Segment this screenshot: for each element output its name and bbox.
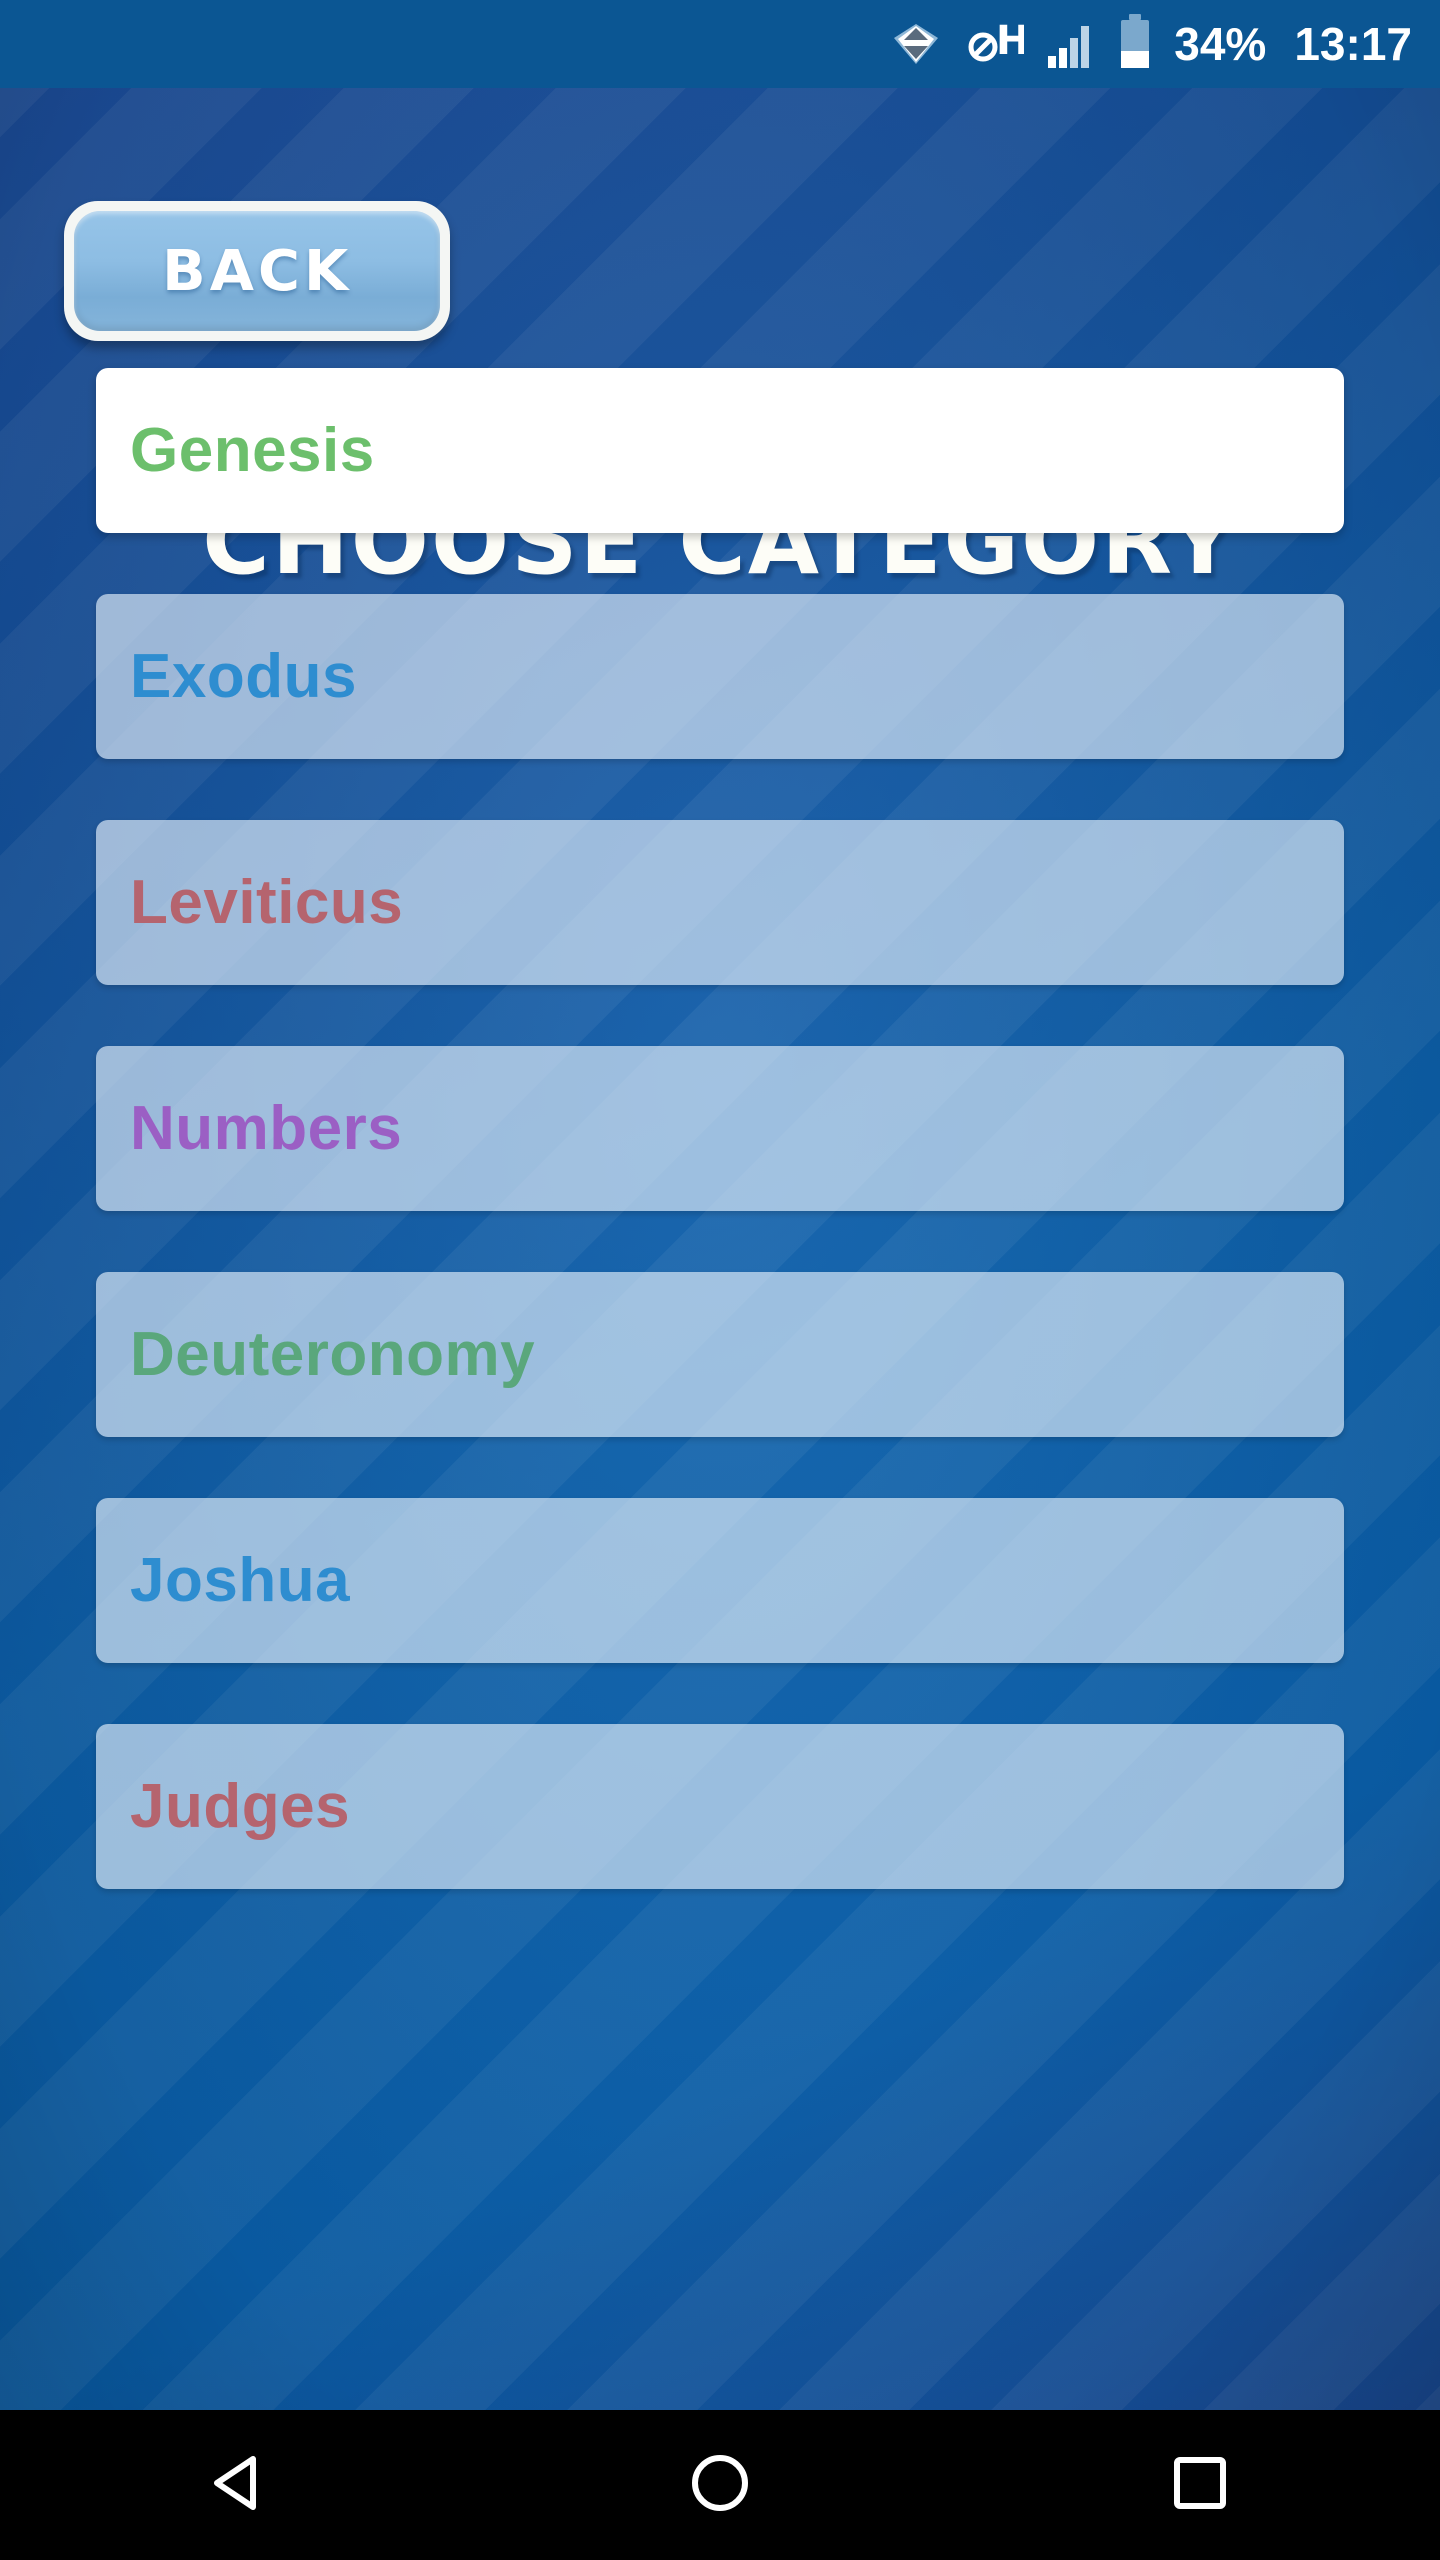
category-item-label: Exodus [130,646,357,708]
category-item-leviticus[interactable]: Leviticus [96,820,1344,985]
main-content: BACK CHOOSE CATEGORY GenesisExodusLeviti… [0,88,1440,2410]
status-bar: H 34% 13:17 [0,0,1440,88]
nav-back-icon [203,2446,277,2525]
nav-recents-button[interactable] [1090,2410,1310,2560]
back-button[interactable]: BACK [64,201,450,341]
hspa-no-data-icon: H [966,14,1024,75]
category-item-deuteronomy[interactable]: Deuteronomy [96,1272,1344,1437]
category-item-joshua[interactable]: Joshua [96,1498,1344,1663]
svg-text:H: H [996,18,1024,64]
battery-icon [1118,13,1152,76]
back-button-label: BACK [162,239,352,304]
category-item-numbers[interactable]: Numbers [96,1046,1344,1211]
clock-label: 13:17 [1294,21,1412,67]
category-item-label: Numbers [130,1098,402,1160]
category-list: GenesisExodusLeviticusNumbersDeuteronomy… [0,368,1440,1889]
category-item-label: Leviticus [130,872,403,934]
app-screen: H 34% 13:17 BACK [0,0,1440,2560]
system-navigation-bar [0,2410,1440,2560]
category-item-judges[interactable]: Judges [96,1724,1344,1889]
nav-home-icon [683,2446,757,2525]
wifi-data-transfer-icon [888,14,944,75]
nav-home-button[interactable] [610,2410,830,2560]
nav-back-button[interactable] [130,2410,350,2560]
cellular-signal-icon [1046,14,1096,75]
category-item-exodus[interactable]: Exodus [96,594,1344,759]
category-item-label: Genesis [130,420,375,482]
category-item-label: Deuteronomy [130,1324,535,1386]
category-item-label: Joshua [130,1550,350,1612]
back-button-face: BACK [74,211,440,331]
nav-recents-icon [1163,2446,1237,2525]
category-item-label: Judges [130,1776,350,1838]
battery-percent-label: 34% [1174,21,1266,67]
category-item-genesis[interactable]: Genesis [96,368,1344,533]
